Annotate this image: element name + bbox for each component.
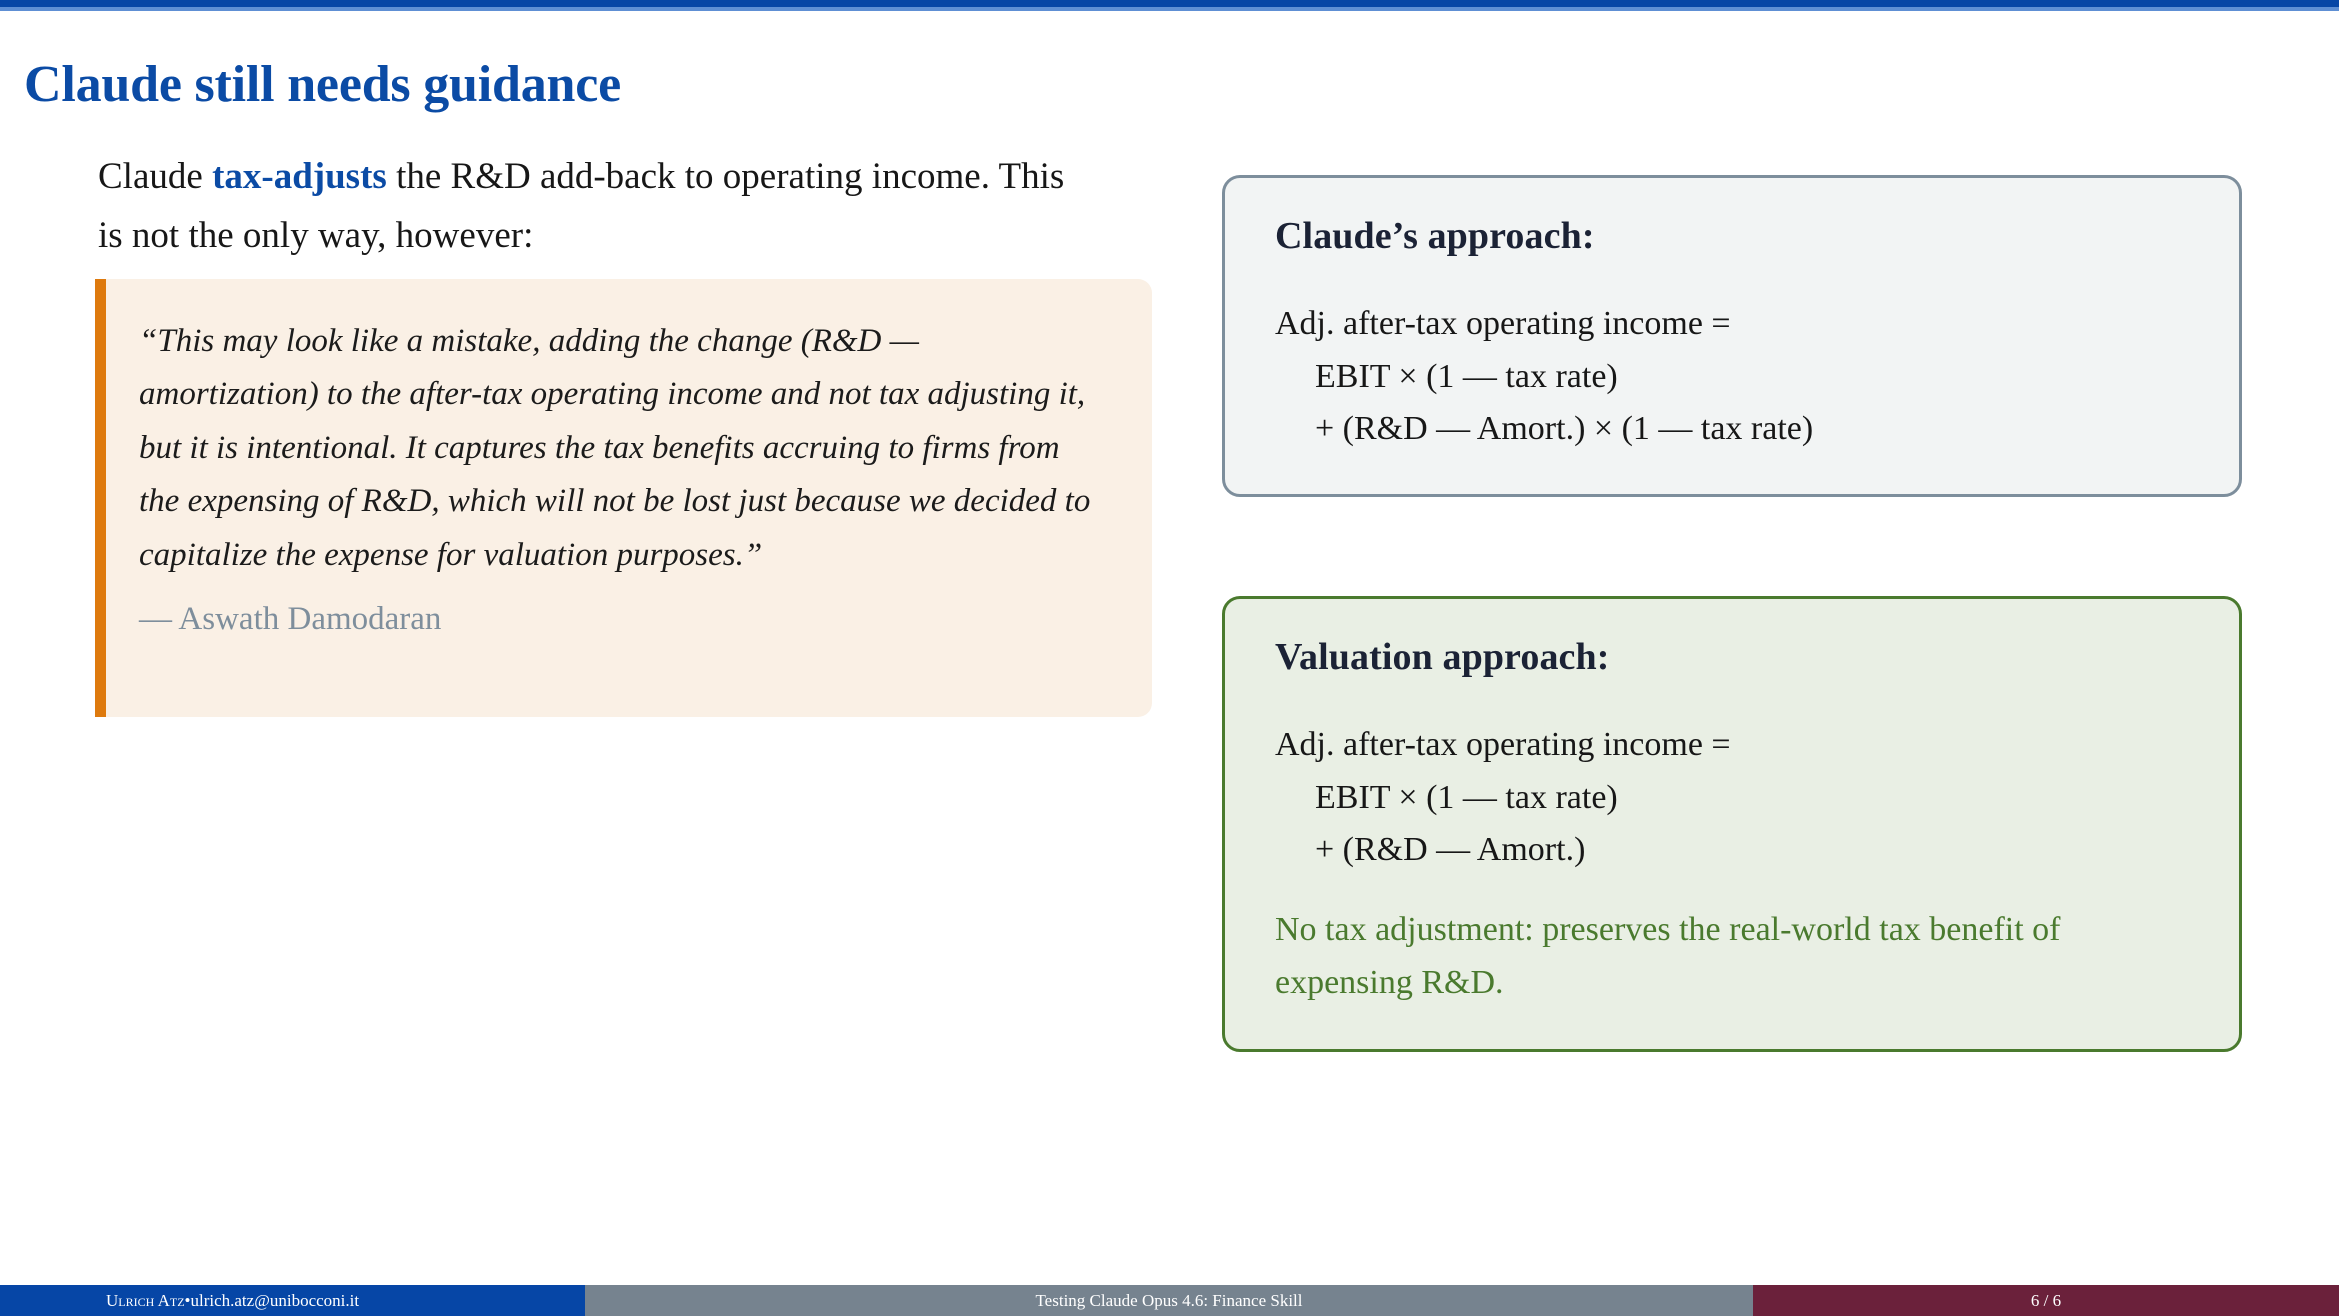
footer-author-name: Ulrich Atz — [106, 1291, 185, 1311]
footer-deck-title: Testing Claude Opus 4.6: Finance Skill — [585, 1285, 1753, 1316]
callout-claude-heading: Claude’s approach: — [1275, 214, 1595, 258]
formula-line-1: Adj. after-tax operating income = — [1275, 726, 1731, 763]
page-title: Claude still needs guidance — [24, 55, 1524, 115]
quote-block: “This may look like a mistake, adding th… — [95, 279, 1152, 717]
quote-accent-rule — [95, 279, 106, 717]
top-accent-bar-secondary — [0, 7, 2339, 11]
quote-attribution: — Aswath Damodaran — [139, 596, 441, 642]
top-accent-bar — [0, 0, 2339, 7]
callout-valuation-formula: Adj. after-tax operating income = EBIT ×… — [1275, 719, 1731, 877]
lead-paragraph: Claude tax-adjusts the R&D add-back to o… — [98, 147, 1098, 265]
formula-line-3: + (R&D — Amort.) — [1275, 824, 1731, 877]
formula-line-1: Adj. after-tax operating income = — [1275, 305, 1731, 342]
quote-text: “This may look like a mistake, adding th… — [139, 315, 1094, 582]
slide-footer: Ulrich Atz • ulrich.atz@unibocconi.it Te… — [0, 1285, 2339, 1316]
lead-highlight-tax-adjusts: tax-adjusts — [212, 156, 387, 197]
callout-valuation-heading: Valuation approach: — [1275, 635, 1610, 679]
callout-claude-approach: Claude’s approach: Adj. after-tax operat… — [1222, 175, 2242, 497]
formula-line-2: EBIT × (1 — tax rate) — [1275, 351, 1813, 404]
formula-line-3: + (R&D — Amort.) × (1 — tax rate) — [1275, 403, 1813, 456]
footer-author-email: ulrich.atz@unibocconi.it — [190, 1291, 359, 1311]
footer-page-number: 6 / 6 — [1753, 1285, 2339, 1316]
callout-valuation-note: No tax adjustment: preserves the real-wo… — [1275, 904, 2205, 1009]
callout-valuation-approach: Valuation approach: Adj. after-tax opera… — [1222, 596, 2242, 1052]
callout-claude-formula: Adj. after-tax operating income = EBIT ×… — [1275, 298, 1813, 456]
formula-line-2: EBIT × (1 — tax rate) — [1275, 772, 1731, 825]
footer-author: Ulrich Atz • ulrich.atz@unibocconi.it — [0, 1285, 585, 1316]
lead-text-before: Claude — [98, 156, 212, 197]
